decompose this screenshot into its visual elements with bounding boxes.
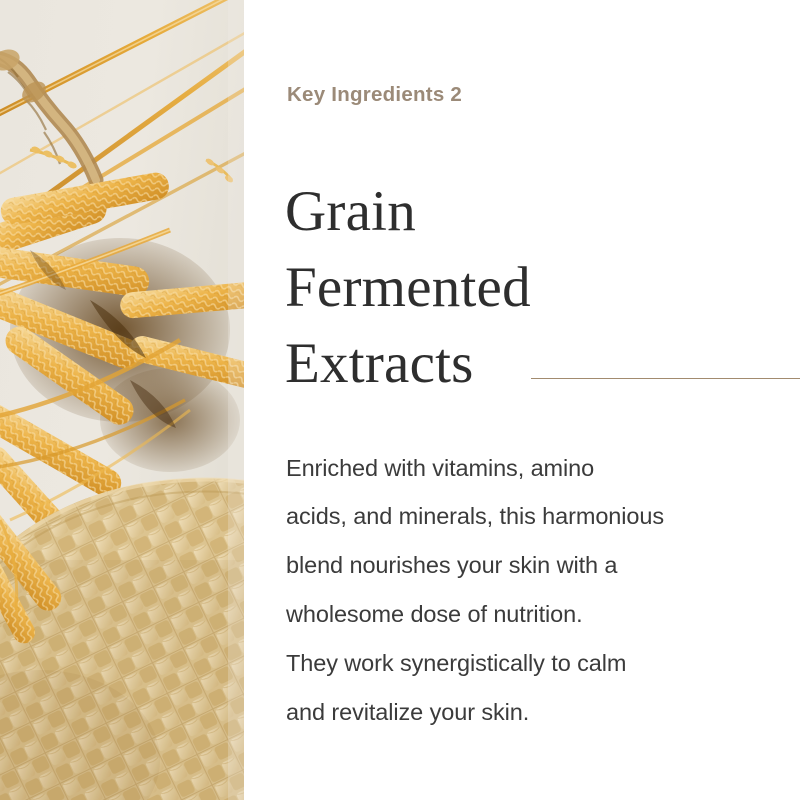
woven-basket <box>0 478 244 800</box>
headline-line-2: Fermented <box>285 250 705 326</box>
body-line-3: blend nourishes your skin with a <box>286 541 766 590</box>
body-line-4: wholesome dose of nutrition. <box>286 590 766 639</box>
body-line-6: and revitalize your skin. <box>286 688 766 737</box>
body-line-5: They work synergistically to calm <box>286 639 766 688</box>
grain-basket-photo-illustration <box>0 0 244 800</box>
eyebrow-label: Key Ingredients 2 <box>287 83 462 108</box>
section-divider <box>531 378 800 379</box>
headline-line-1: Grain <box>285 174 705 250</box>
description-text: Enriched with vitamins, amino acids, and… <box>286 444 766 737</box>
content-panel: Key Ingredients 2 Grain Fermented Extrac… <box>244 0 800 800</box>
headline-line-3: Extracts <box>285 326 705 402</box>
ingredient-photo <box>0 0 244 800</box>
product-ingredient-slide: Key Ingredients 2 Grain Fermented Extrac… <box>0 0 800 800</box>
body-line-1: Enriched with vitamins, amino <box>286 444 766 493</box>
body-line-2: acids, and minerals, this harmonious <box>286 492 766 541</box>
page-title: Grain Fermented Extracts <box>285 174 705 401</box>
